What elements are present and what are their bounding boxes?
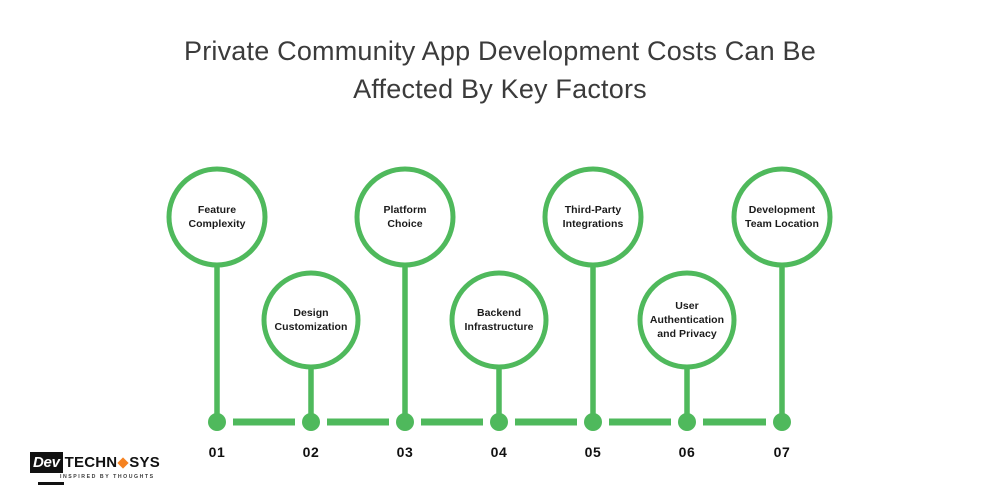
axis-dot-04[interactable] [490,413,508,431]
node-circle-05[interactable] [545,169,641,265]
step-number-04: 04 [469,444,529,460]
diamond-icon [118,457,129,468]
axis-dot-05[interactable] [584,413,602,431]
step-number-05: 05 [563,444,623,460]
brand-logo[interactable]: Dev TECHN SYS INSPIRED BY THOUGHTS [30,452,166,486]
step-number-06: 06 [657,444,717,460]
step-number-01: 01 [187,444,247,460]
node-circle-03[interactable] [357,169,453,265]
axis-dot-06[interactable] [678,413,696,431]
node-circle-07[interactable] [734,169,830,265]
infographic-canvas: Private Community App Development Costs … [0,0,1000,500]
node-circle-06[interactable] [640,273,734,367]
step-number-03: 03 [375,444,435,460]
timeline-diagram [0,0,1000,500]
logo-word-part2: SYS [129,452,160,473]
node-circle-04[interactable] [452,273,546,367]
node-circle-01[interactable] [169,169,265,265]
step-number-02: 02 [281,444,341,460]
step-number-07: 07 [752,444,812,460]
logo-technosys-word: TECHN SYS [65,452,160,473]
logo-word-part1: TECHN [65,452,118,473]
node-circle-group [169,169,830,367]
node-circle-02[interactable] [264,273,358,367]
axis-dot-07[interactable] [773,413,791,431]
axis-dot-01[interactable] [208,413,226,431]
axis-dot-02[interactable] [302,413,320,431]
axis-dot-03[interactable] [396,413,414,431]
logo-tagline: INSPIRED BY THOUGHTS [60,474,166,480]
logo-monitor-stand-icon [38,482,64,485]
logo-dev-badge: Dev [30,452,63,473]
logo-wordmark-row: Dev TECHN SYS [30,452,166,473]
